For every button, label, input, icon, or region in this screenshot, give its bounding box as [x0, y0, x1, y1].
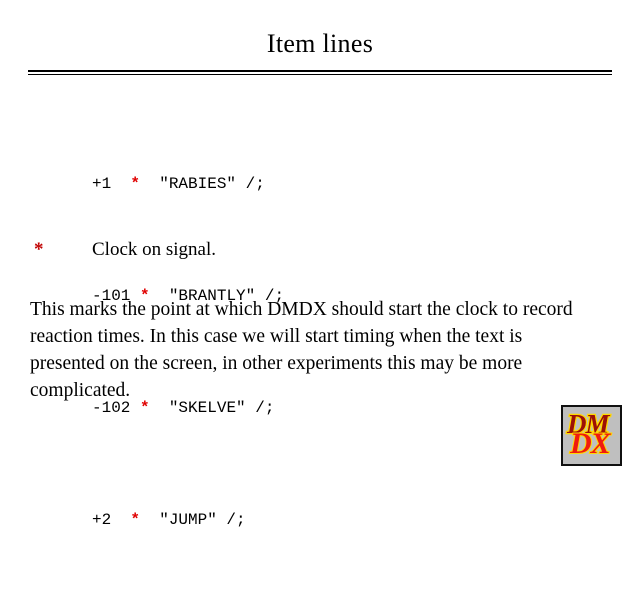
body-paragraph: This marks the point at which DMDX shoul… — [30, 296, 586, 404]
code-line-content: ″JUMP" /; — [159, 511, 245, 529]
legend-row: * Clock on signal. — [34, 238, 594, 262]
code-line: +2 * ″JUMP" /; — [92, 506, 284, 534]
page-title: Item lines — [0, 28, 640, 60]
divider-line-thin — [28, 74, 612, 75]
dmdx-logo-bottom-text: DX — [570, 427, 610, 461]
code-line-space — [140, 175, 159, 193]
code-line-number: +2 — [92, 511, 111, 529]
code-line-space — [111, 175, 130, 193]
code-line-space — [140, 511, 159, 529]
code-line: +1 * "RABIES" /; — [92, 170, 284, 198]
title-divider — [28, 70, 612, 75]
code-line-space — [111, 511, 130, 529]
dmdx-logo-inner: DM DX — [563, 407, 620, 464]
clock-asterisk-icon: * — [130, 511, 140, 529]
code-line-content: "RABIES" /; — [159, 175, 265, 193]
clock-asterisk-icon: * — [130, 175, 140, 193]
dmdx-logo: DM DX — [561, 405, 622, 466]
divider-line-thick — [28, 70, 612, 72]
code-line-number: +1 — [92, 175, 111, 193]
legend-label: Clock on signal. — [92, 238, 216, 262]
legend-asterisk-icon: * — [34, 238, 44, 262]
